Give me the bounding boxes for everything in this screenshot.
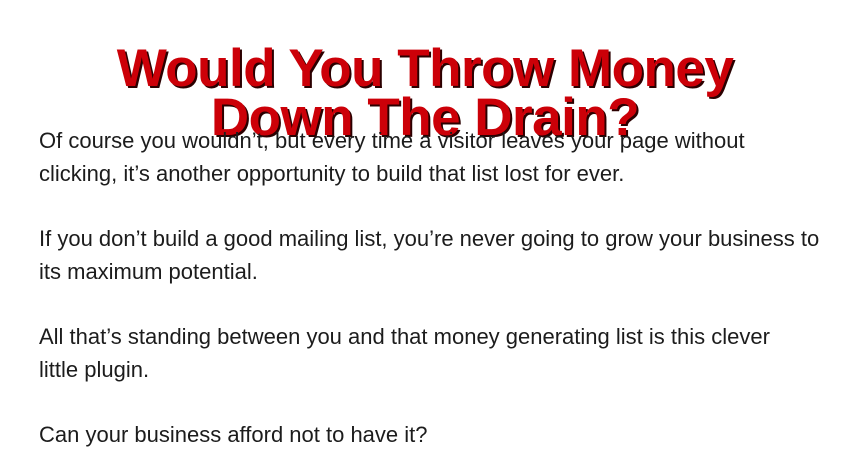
- sales-page-copy-block: Would You Throw Money Down The Drain? Of…: [0, 0, 850, 458]
- body-paragraph-1: Of course you wouldn’t, but every time a…: [39, 124, 821, 190]
- body-copy: Of course you wouldn’t, but every time a…: [39, 124, 821, 451]
- body-paragraph-2: If you don’t build a good mailing list, …: [39, 222, 821, 288]
- headline-line-1: Would You Throw Money: [0, 44, 850, 93]
- body-paragraph-4: Can your business afford not to have it?: [39, 418, 821, 451]
- body-paragraph-3: All that’s standing between you and that…: [39, 320, 811, 386]
